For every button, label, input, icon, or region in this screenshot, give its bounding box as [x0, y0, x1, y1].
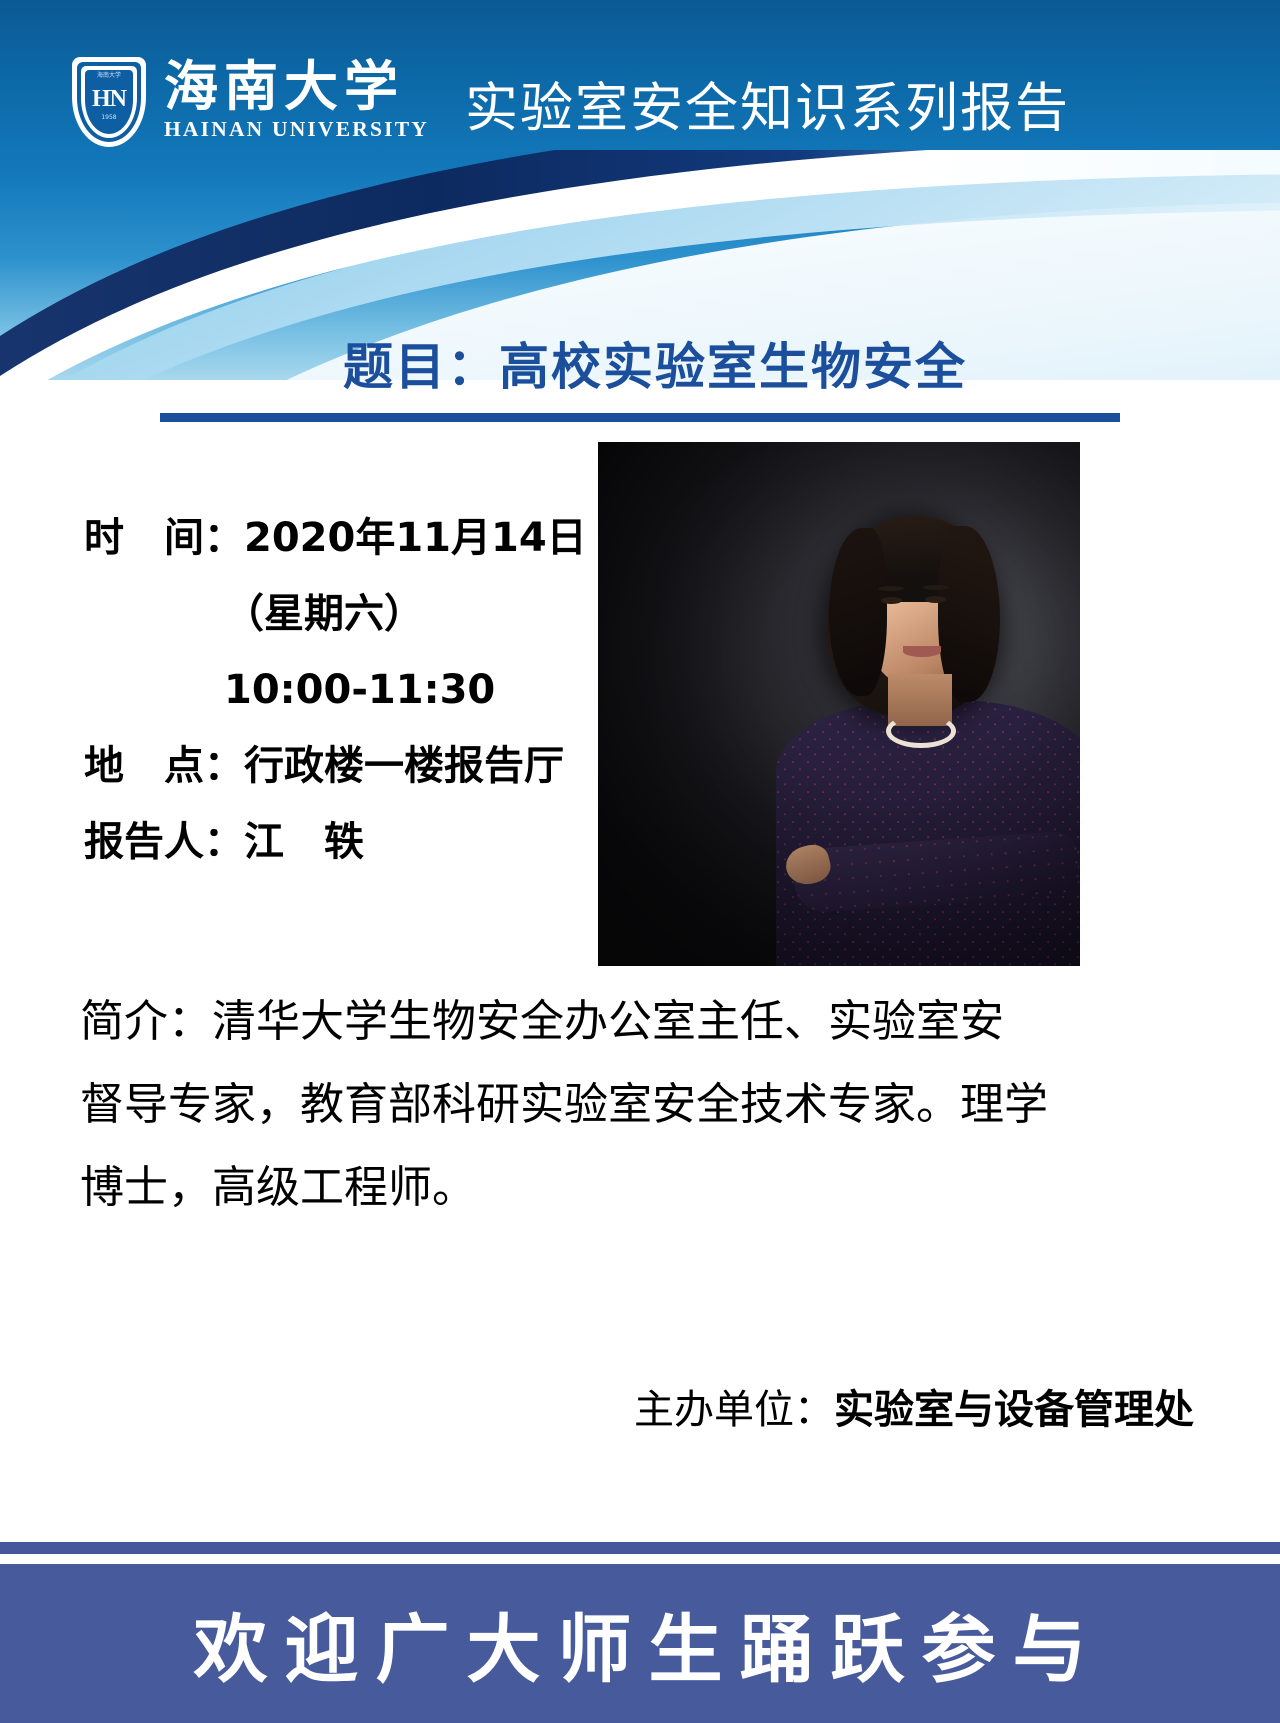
series-title: 实验室安全知识系列报告: [465, 66, 1070, 142]
footer-top-rule: [0, 1542, 1280, 1554]
university-wordmark: 海南大学 HAINAN UNIVERSITY: [164, 58, 429, 142]
footer-welcome-text: 欢迎广大师生踊跃参与: [177, 1590, 1104, 1697]
lecture-title-block: 题目：高校实验室生物安全: [0, 340, 1280, 422]
header-brand-row: 海南大学 HN 1958 海南大学 HAINAN UNIVERSITY 实验室安…: [0, 0, 1280, 200]
portrait-vignette: [598, 442, 1080, 966]
university-name-cn: 海南大学: [164, 58, 429, 115]
detail-date: 时 间：2020年11月14日: [84, 518, 584, 558]
footer-banner: 欢迎广大师生踊跃参与: [0, 1564, 1280, 1723]
organizer-line: 主办单位：实验室与设备管理处: [0, 1390, 1280, 1430]
title-underline-rule: [160, 413, 1120, 422]
event-details: 时 间：2020年11月14日 （星期六） 10:00-11:30 地 点：行政…: [84, 518, 584, 898]
organizer-label: 主办单位：: [634, 1387, 834, 1433]
lecture-title: 题目：高校实验室生物安全: [0, 340, 1280, 395]
speaker-bio: 简介：清华大学生物安全办公室主任、实验室安 督导专家，教育部科研实验室安全技术专…: [80, 1000, 1204, 1249]
crest-top-text: 海南大学: [85, 73, 133, 79]
university-name-en: HAINAN UNIVERSITY: [164, 117, 429, 142]
university-crest-icon: 海南大学 HN 1958: [72, 57, 146, 147]
poster-root: 海南大学 HN 1958 海南大学 HAINAN UNIVERSITY 实验室安…: [0, 0, 1280, 1723]
bio-line-2: 督导专家，教育部科研实验室安全技术专家。理学: [80, 1083, 1204, 1127]
organizer-value: 实验室与设备管理处: [834, 1387, 1194, 1433]
crest-initials: HN: [85, 87, 133, 111]
detail-time: 10:00-11:30: [84, 670, 584, 710]
detail-speaker: 报告人：江 轶: [84, 822, 584, 862]
speaker-portrait-photo: [598, 442, 1080, 966]
poster-header: 海南大学 HN 1958 海南大学 HAINAN UNIVERSITY 实验室安…: [0, 0, 1280, 380]
crest-year: 1958: [85, 115, 133, 121]
detail-location: 地 点：行政楼一楼报告厅: [84, 746, 584, 786]
detail-weekday: （星期六）: [84, 594, 584, 634]
bio-line-3: 博士，高级工程师。: [80, 1166, 1204, 1210]
bio-line-1: 简介：清华大学生物安全办公室主任、实验室安: [80, 1000, 1204, 1044]
